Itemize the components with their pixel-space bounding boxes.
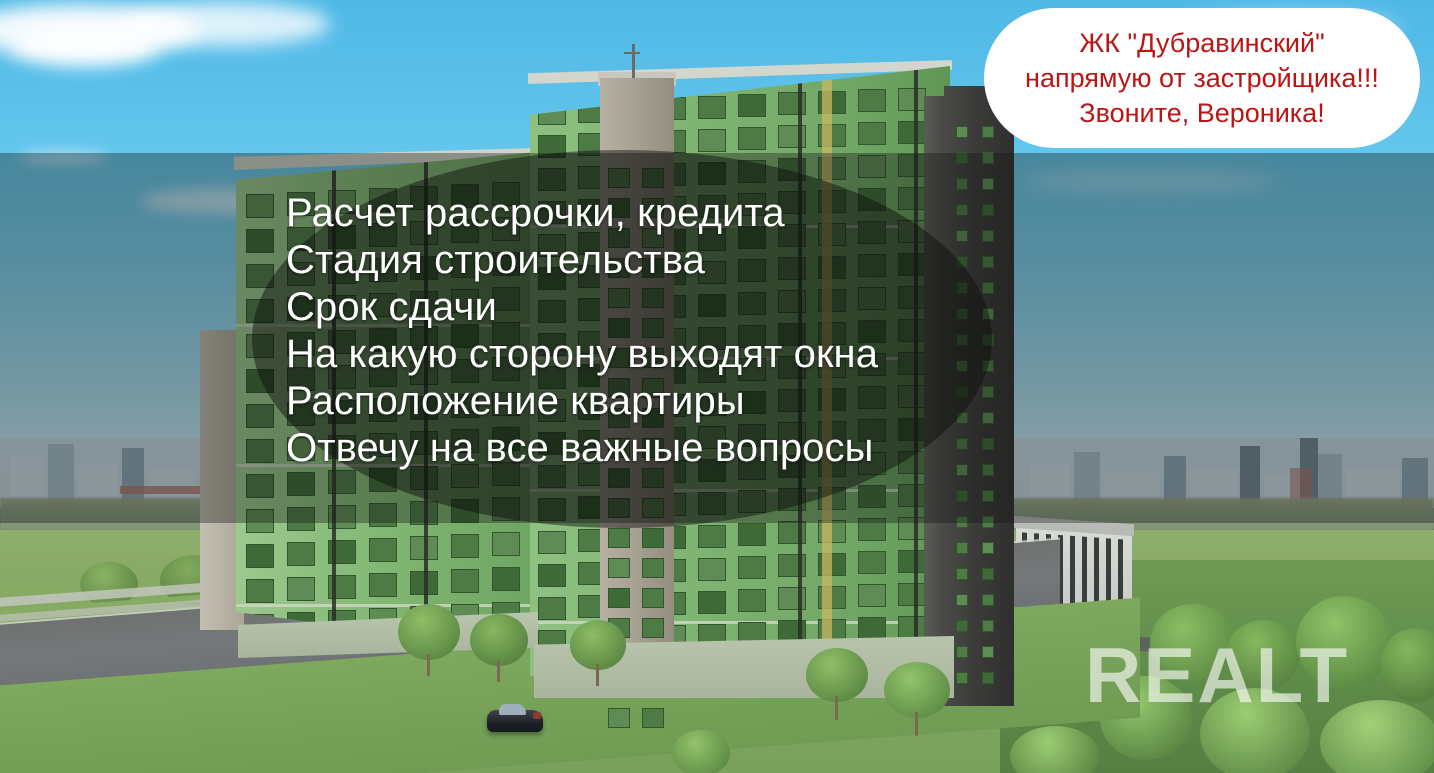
advertisement-image: Расчет рассрочки, кредита Стадия строите… — [0, 0, 1434, 773]
bubble-line-2: напрямую от застройщика!!! — [1025, 61, 1379, 96]
cloud — [18, 150, 108, 166]
tree-trunk — [915, 712, 918, 736]
speech-bubble: ЖК "Дубравинский" напрямую от застройщик… — [984, 8, 1420, 148]
overlay-line-2: Стадия строительства — [286, 237, 1046, 284]
overlay-line-4: На какую сторону выходят окна — [286, 331, 1046, 378]
tree — [806, 648, 868, 702]
tree-trunk — [427, 654, 430, 676]
tree — [1150, 604, 1236, 682]
tree — [1296, 596, 1392, 688]
tree — [672, 730, 730, 773]
bubble-line-3: Звоните, Вероника! — [1025, 96, 1379, 131]
tree-trunk — [497, 660, 500, 682]
speech-bubble-text: ЖК "Дубравинский" напрямую от застройщик… — [1025, 26, 1379, 131]
tree — [1200, 688, 1310, 773]
overlay-line-3: Срок сдачи — [286, 284, 1046, 331]
antenna — [632, 44, 635, 78]
tree — [570, 620, 626, 670]
cloud — [120, 2, 330, 46]
tree-trunk — [835, 696, 838, 720]
tree — [1226, 620, 1300, 690]
tree — [884, 662, 950, 718]
overlay-line-5: Расположение квартиры — [286, 378, 1046, 425]
antenna — [624, 52, 640, 54]
bubble-line-1: ЖК "Дубравинский" — [1025, 26, 1379, 61]
overlay-line-1: Расчет рассрочки, кредита — [286, 190, 1046, 237]
cloud — [1020, 170, 1280, 192]
overlay-text-block: Расчет рассрочки, кредита Стадия строите… — [286, 190, 1046, 472]
overlay-line-6: Отвечу на все важные вопросы — [286, 425, 1046, 472]
tree — [470, 614, 528, 666]
car — [487, 710, 543, 732]
tree — [398, 604, 460, 660]
tree-trunk — [596, 664, 599, 686]
